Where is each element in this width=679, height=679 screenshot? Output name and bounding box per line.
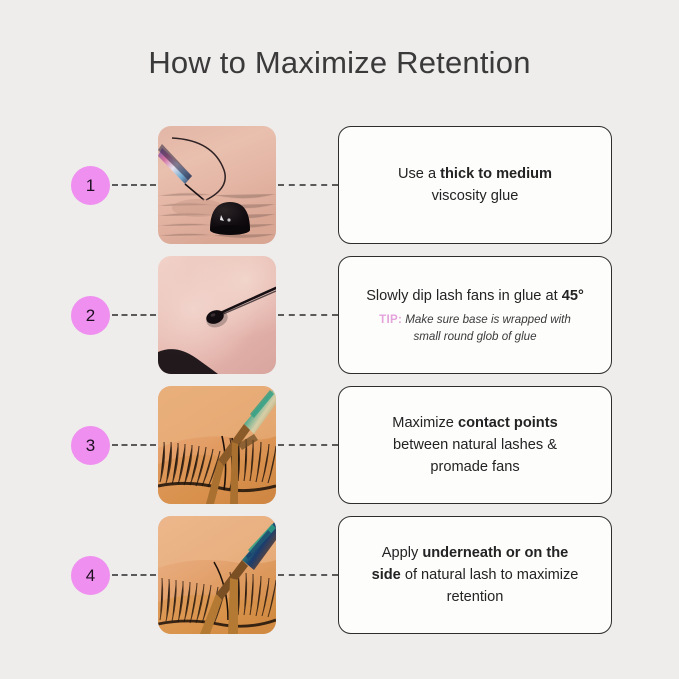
- step-number-wrapper: 4: [71, 516, 110, 634]
- card-line: Slowly dip lash fans in glue at 45°: [366, 285, 584, 307]
- lash-fan-dipped-in-glue-photo: [158, 256, 276, 374]
- step-number-wrapper: 1: [71, 126, 110, 244]
- card-line: between natural lashes &: [393, 434, 557, 456]
- step-number-wrapper: 3: [71, 386, 110, 504]
- card-line: viscosity glue: [432, 185, 519, 207]
- tip-text: Make sure base is wrapped with: [405, 313, 571, 326]
- step-number-badge: 3: [71, 426, 110, 465]
- connector-dash-number-to-photo: [112, 184, 156, 186]
- step-number-badge: 2: [71, 296, 110, 335]
- tip-line: small round glob of glue: [379, 329, 571, 346]
- step-text-card: Use a thick to medium viscosity glue: [338, 126, 612, 244]
- card-line: promade fans: [430, 456, 519, 478]
- connector-dash-photo-to-card: [278, 314, 338, 316]
- card-line-text: between natural lashes &: [393, 437, 557, 453]
- step-number-badge: 4: [71, 556, 110, 595]
- connector-dash-photo-to-card: [278, 574, 338, 576]
- tip-text: small round glob of glue: [413, 330, 536, 343]
- card-line-bold: underneath or on the: [422, 545, 568, 561]
- connector-dash-photo-to-card: [278, 444, 338, 446]
- card-line: side of natural lash to maximize: [372, 564, 579, 586]
- step-row: 1: [0, 126, 679, 244]
- card-line-text: Maximize: [392, 415, 458, 431]
- card-line-text: viscosity glue: [432, 188, 519, 204]
- step-text-card: Slowly dip lash fans in glue at 45° TIP:…: [338, 256, 612, 374]
- connector-dash-number-to-photo: [112, 314, 156, 316]
- card-line-text: Use a: [398, 166, 440, 182]
- tip-block: TIP:Make sure base is wrapped with small…: [379, 312, 571, 346]
- card-line: Use a thick to medium: [398, 163, 552, 185]
- card-line-tail: of natural lash to maximize: [401, 567, 579, 583]
- step-row: 2: [0, 256, 679, 374]
- card-line-bold: contact points: [458, 415, 558, 431]
- card-line-text: retention: [447, 589, 504, 605]
- card-line: retention: [447, 586, 504, 608]
- contact-points-lash-application-photo: [158, 386, 276, 504]
- steps-list: 1: [0, 126, 679, 646]
- step-number-badge: 1: [71, 166, 110, 205]
- card-line-text: Slowly dip lash fans in glue at: [366, 288, 562, 304]
- connector-dash-photo-to-card: [278, 184, 338, 186]
- card-line-bold: 45°: [562, 288, 584, 304]
- card-line-bold: thick to medium: [440, 166, 552, 182]
- card-line-text: promade fans: [430, 459, 519, 475]
- card-line-bold: side: [372, 567, 401, 583]
- tip-line: TIP:Make sure base is wrapped with: [379, 312, 571, 329]
- infographic-page: How to Maximize Retention 1: [0, 0, 679, 679]
- page-title: How to Maximize Retention: [0, 44, 679, 81]
- card-line: Maximize contact points: [392, 412, 557, 434]
- underneath-side-lash-application-photo: [158, 516, 276, 634]
- step-text-card: Apply underneath or on the side of natur…: [338, 516, 612, 634]
- tip-label: TIP:: [379, 313, 402, 326]
- card-line-text: Apply: [382, 545, 423, 561]
- glue-drop-with-tweezers-photo: [158, 126, 276, 244]
- step-text-card: Maximize contact points between natural …: [338, 386, 612, 504]
- card-line: Apply underneath or on the: [382, 542, 569, 564]
- step-row: 3: [0, 386, 679, 504]
- step-number-wrapper: 2: [71, 256, 110, 374]
- connector-dash-number-to-photo: [112, 574, 156, 576]
- connector-dash-number-to-photo: [112, 444, 156, 446]
- step-row: 4: [0, 516, 679, 634]
